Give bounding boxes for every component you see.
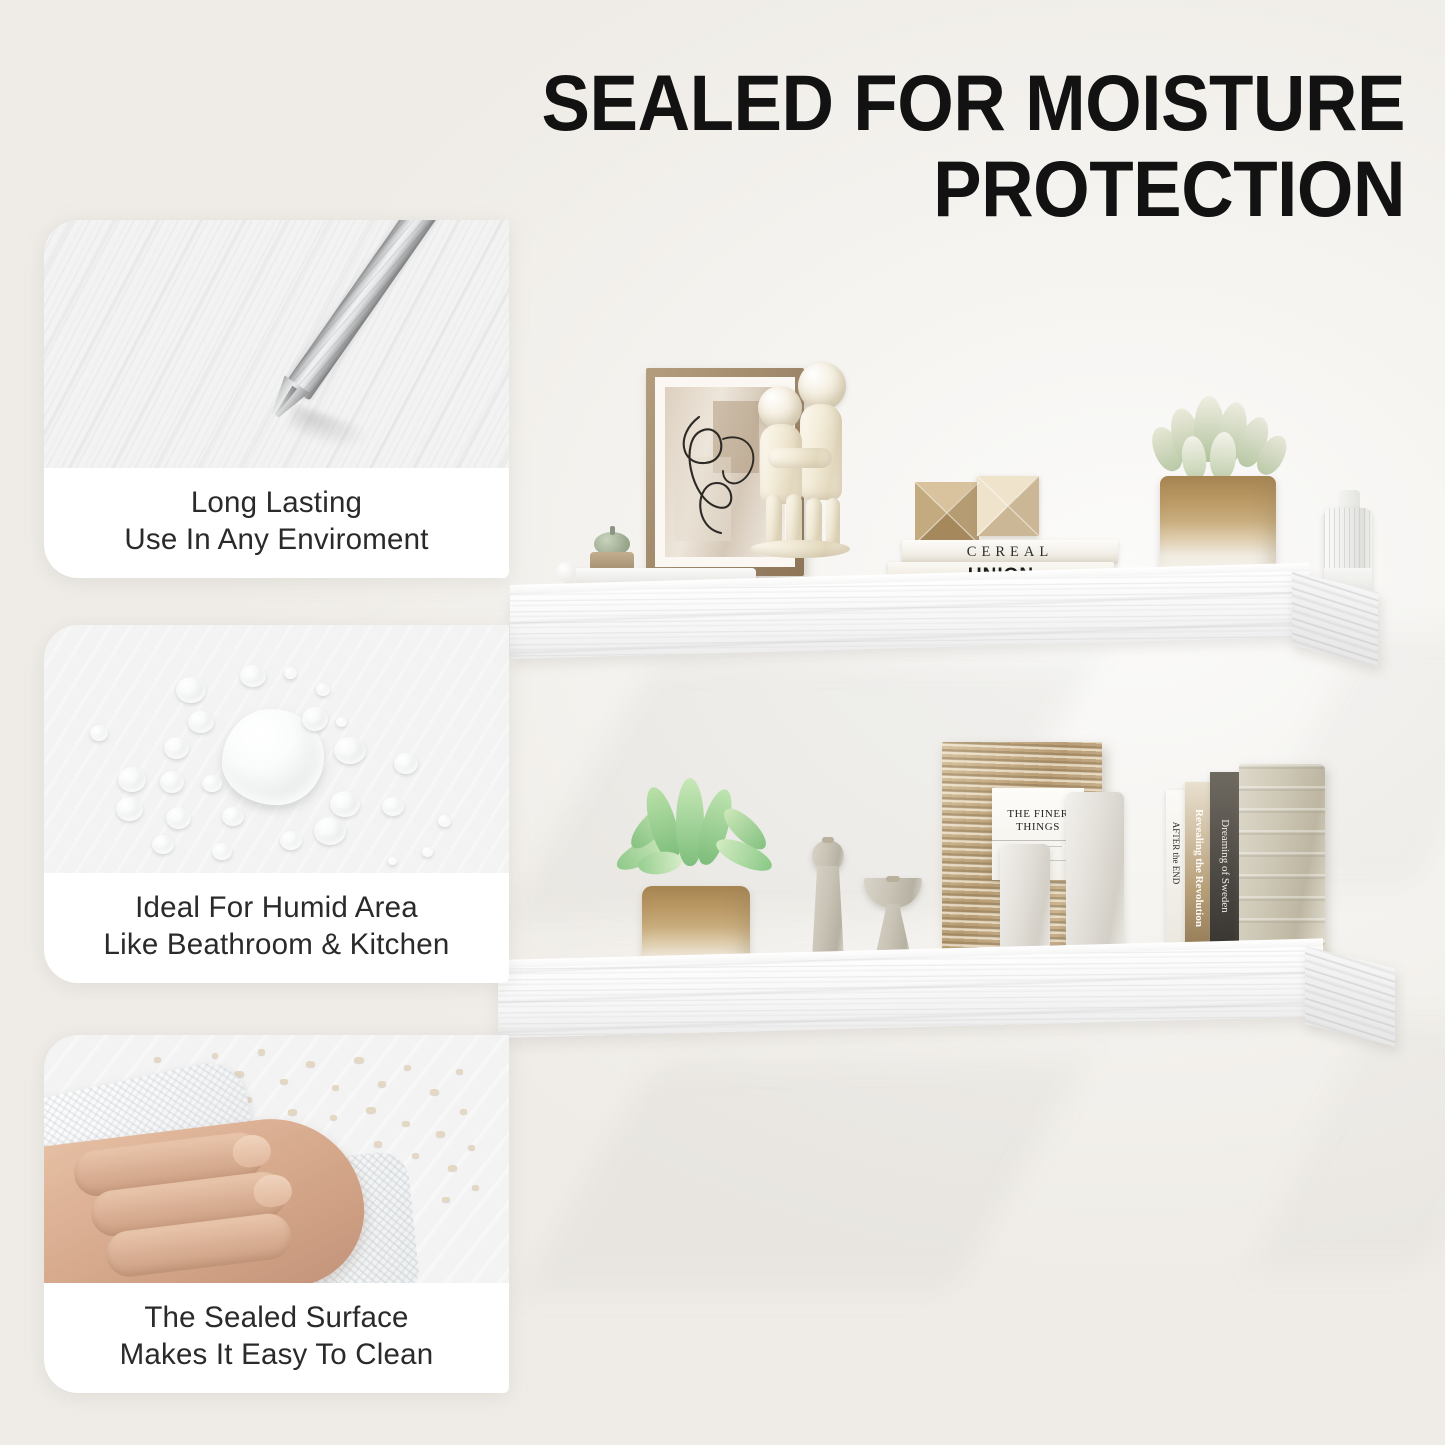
water-droplet (152, 835, 174, 854)
cream-cylinder-vase-short (1000, 844, 1050, 960)
book-after-the-end-title: AFTER the END (1171, 815, 1181, 891)
cream-cylinder-vase-tall (1066, 792, 1124, 960)
upper-floating-shelf (510, 585, 1390, 695)
lower-shelf-wall-shadow (524, 1060, 1087, 1290)
water-droplet (116, 797, 143, 821)
crumb (448, 1165, 457, 1171)
ribbed-white-bottle-vase (1322, 490, 1374, 594)
water-droplet (422, 847, 433, 857)
book-revealing-title: Revealing the Revolution (1193, 804, 1205, 932)
water-droplet (166, 807, 191, 829)
crumb (430, 1089, 439, 1095)
caption-line-2: Like Beathroom & Kitchen (64, 926, 489, 963)
upper-shelf-decor-group: CEREAL UNION (470, 300, 1445, 600)
crumb (212, 1053, 218, 1058)
water-droplet (188, 711, 214, 733)
wood-grain-texture-secondary (44, 220, 509, 468)
succulent-in-gold-ombre-pot (1138, 392, 1298, 592)
figurine-arm (768, 448, 832, 468)
water-droplet (438, 815, 451, 827)
crumb (442, 1197, 450, 1202)
small-white-bead-ornament (556, 562, 576, 582)
crumb (288, 1109, 297, 1115)
brass-facet-lines-icon (915, 476, 1045, 548)
water-droplet (316, 683, 330, 696)
water-droplet (118, 767, 146, 792)
crumb (402, 1121, 410, 1126)
crumb (332, 1085, 339, 1090)
water-droplet (176, 677, 206, 703)
feature-card-moisture: Ideal For Humid Area Like Beathroom & Ki… (44, 625, 509, 983)
water-droplet (302, 707, 328, 731)
water-droplet (212, 843, 232, 860)
book-revealing-the-revolution: Revealing the Revolution (1185, 782, 1211, 962)
book-dreaming-of-sweden: Dreaming of Sweden (1210, 772, 1240, 962)
photo-water-droplets (44, 625, 509, 873)
title-line-2: PROTECTION (508, 150, 1405, 228)
water-droplet (222, 807, 244, 826)
upper-shelf-cap-grain (1292, 571, 1378, 666)
water-droplet (280, 831, 302, 850)
water-droplet (382, 797, 404, 816)
book-stack: AFTER the END Revealing the Revolution D… (1166, 764, 1366, 964)
crumb (378, 1081, 386, 1087)
crumb (366, 1107, 376, 1113)
water-droplet (90, 725, 108, 741)
photo-screwdriver-on-wood (44, 220, 509, 468)
candle-holder-bowl (864, 878, 922, 908)
lower-shelf-cap-grain (1305, 946, 1395, 1046)
candle-holder-stem (812, 866, 844, 960)
crumb (468, 1145, 475, 1150)
caption-line-1: Ideal For Humid Area (64, 889, 489, 926)
water-droplet (202, 775, 222, 792)
tall-taupe-candle-holder (806, 840, 850, 960)
water-droplet (388, 857, 397, 865)
water-droplet (164, 737, 189, 759)
book-cereal: CEREAL (902, 540, 1118, 564)
book-dreaming-title: Dreaming of Sweden (1219, 801, 1231, 931)
figurine-base (750, 540, 850, 558)
caption-line-2: Makes It Easy To Clean (64, 1336, 489, 1373)
crumb (472, 1185, 479, 1190)
water-droplet (334, 737, 366, 764)
lower-shelf-end-cap (1305, 946, 1395, 1046)
book-after-the-end: AFTER the END (1166, 790, 1186, 962)
brass-geometric-diamond-objects (915, 476, 1045, 548)
feature-card-durability: Long Lasting Use In Any Enviroment (44, 220, 509, 578)
crumb (374, 1141, 382, 1147)
water-droplet (240, 665, 266, 687)
candle-holder-cup (822, 837, 834, 843)
crumb (330, 1115, 337, 1120)
photo-hand-wiping-crumbs (44, 1035, 509, 1283)
crumb (354, 1057, 364, 1063)
crumb (306, 1061, 315, 1067)
product-scene: CEREAL UNION (470, 300, 1445, 1400)
feature-card-durability-caption: Long Lasting Use In Any Enviroment (44, 468, 509, 578)
caption-line-1: The Sealed Surface (64, 1299, 489, 1336)
page-title: SEALED FOR MOISTURE PROTECTION (430, 64, 1405, 228)
figurine-head-right (798, 362, 846, 410)
crumb (412, 1153, 419, 1158)
crumb (258, 1049, 265, 1055)
infographic-canvas: SEALED FOR MOISTURE PROTECTION (0, 0, 1445, 1445)
water-droplet (160, 771, 184, 793)
upper-shelf-end-cap (1292, 571, 1378, 666)
feature-card-cleaning: The Sealed Surface Makes It Easy To Clea… (44, 1035, 509, 1393)
caption-line-2: Use In Any Enviroment (64, 521, 489, 558)
crumb (154, 1057, 161, 1062)
feature-card-moisture-caption: Ideal For Humid Area Like Beathroom & Ki… (44, 873, 509, 983)
feature-card-cleaning-caption: The Sealed Surface Makes It Easy To Clea… (44, 1283, 509, 1393)
title-line-1: SEALED FOR MOISTURE (508, 64, 1405, 142)
lower-floating-shelf (498, 960, 1398, 1080)
crumb (280, 1079, 288, 1084)
cream-leather-bound-volume (1239, 764, 1325, 962)
water-droplet (284, 667, 297, 679)
caption-line-1: Long Lasting (64, 484, 489, 521)
water-droplet (314, 817, 346, 845)
pearl-couple-figurine (742, 362, 852, 562)
book-cereal-title: CEREAL (902, 544, 1118, 561)
crumb (460, 1109, 467, 1114)
candle-holder-cup (886, 876, 900, 882)
water-droplet (330, 791, 360, 817)
gourd-stem (610, 526, 615, 535)
crumb (456, 1069, 463, 1074)
succulent-foliage (1148, 392, 1294, 484)
water-droplet (336, 717, 347, 727)
crumb (404, 1065, 411, 1070)
crumb (436, 1131, 445, 1137)
water-droplet (394, 753, 418, 774)
